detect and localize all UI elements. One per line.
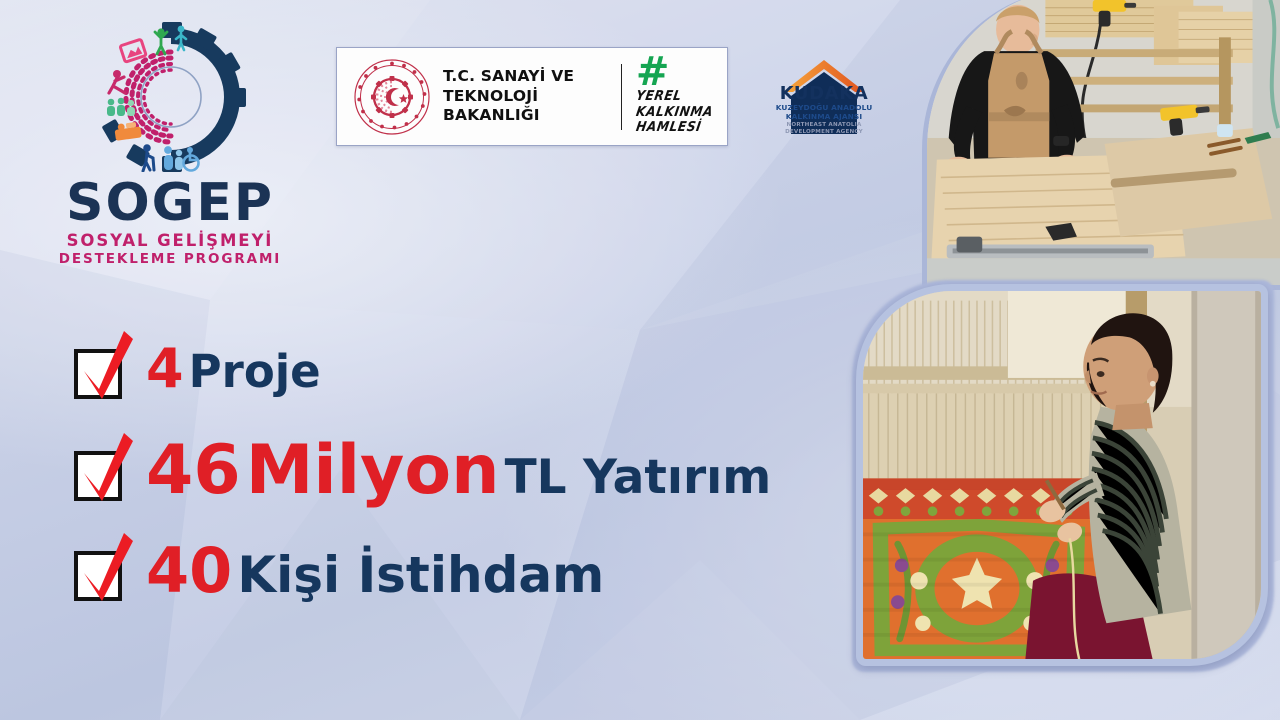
campaign-line3: HAMLESİ [635,120,729,136]
sogep-gear-people-logo [96,22,246,172]
kudaka-english-line1: NORTHEAST ANATOLIA [773,122,875,129]
stat-number-employment: 40 [146,534,232,607]
kudaka-english-name: NORTHEAST ANATOLIA DEVELOPMENT AGENCY [773,122,875,137]
stat-label-investment: TL Yatırım [505,450,772,505]
kudaka-name: KUDAKA [773,83,875,104]
ministry-name-line1: T.C. SANAYİ VE [443,67,607,87]
kudaka-turkish-name: KUZEYDOĞU ANADOLU KALKINMA AJANSI [773,103,875,122]
sogep-subtitle-line1: SOSYAL GELİŞMEYİ [54,231,286,250]
statistics-list: 4 Proje 46 Milyon TL Yatırım [72,316,872,620]
carpentry-workshop-photo [922,0,1280,290]
red-checkmark-icon [72,420,146,520]
stat-label-projects: Proje [189,345,321,398]
stat-number-projects: 4 [146,337,184,400]
stat-unit-investment: Milyon [246,431,500,510]
turkey-ministry-emblem [353,58,431,136]
red-checkmark-icon [72,520,146,620]
sogep-title: SOGEP [54,178,286,229]
stat-number-investment: 46 [146,431,241,510]
ministry-logo-box: T.C. SANAYİ VE TEKNOLOJİ BAKANLIĞI # YER… [336,47,728,146]
stat-row-projects: 4 Proje [72,316,872,420]
stat-text-projects: 4 Proje [146,337,321,400]
kudaka-turkish-line2: KALKINMA AJANSI [773,112,875,121]
poster-canvas: SOGEP SOSYAL GELİŞMEYİ DESTEKLEME PROGRA… [0,0,1280,720]
ministry-divider [621,64,622,130]
kudaka-english-line2: DEVELOPMENT AGENCY [773,129,875,136]
kudaka-logo: KUDAKA KUZEYDOĞU ANADOLU KALKINMA AJANSI… [773,56,875,142]
kudaka-turkish-line1: KUZEYDOĞU ANADOLU [773,103,875,112]
red-checkmark-icon [72,316,146,420]
sogep-wordmark: SOGEP SOSYAL GELİŞMEYİ DESTEKLEME PROGRA… [54,178,286,267]
campaign-line1: YEREL [635,89,729,105]
carpet-weaving-photo [856,284,1268,666]
stat-text-investment: 46 Milyon TL Yatırım [146,431,771,510]
ministry-name: T.C. SANAYİ VE TEKNOLOJİ BAKANLIĞI [443,67,607,126]
yerel-kalkinma-hamlesi-logo: # YEREL KALKINMA HAMLESİ [636,57,727,136]
ministry-name-line2: TEKNOLOJİ BAKANLIĞI [443,87,607,127]
stat-row-investment: 46 Milyon TL Yatırım [72,420,872,520]
stat-text-employment: 40 Kişi İstihdam [146,534,604,607]
sogep-logo: SOGEP SOSYAL GELİŞMEYİ DESTEKLEME PROGRA… [62,22,302,267]
stat-row-employment: 40 Kişi İstihdam [72,520,872,620]
hashtag-icon: # [636,57,727,88]
sogep-subtitle-line2: DESTEKLEME PROGRAMI [54,251,286,267]
stat-label-employment: Kişi İstihdam [237,546,604,604]
